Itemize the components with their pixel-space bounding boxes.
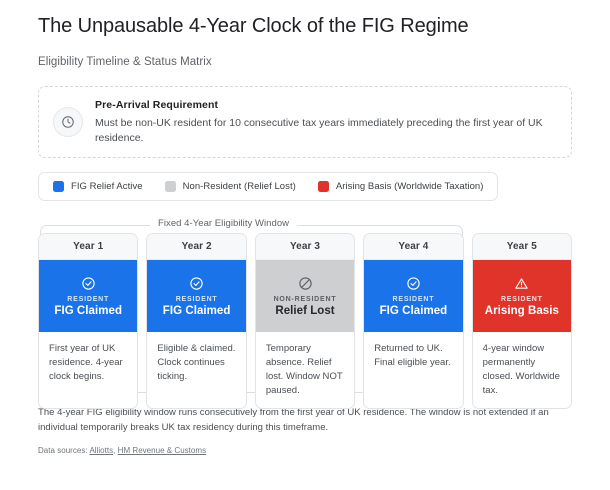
legend-item-label: FIG Relief Active — [71, 181, 143, 192]
prohibition-icon — [298, 276, 313, 291]
status-label: FIG Claimed — [54, 305, 122, 317]
timeline-column-year-1[interactable]: Year 1 RESIDENT FIG Claimed First year o… — [38, 233, 138, 409]
sources-separator: , — [113, 446, 115, 455]
source-link-alliotts[interactable]: Alliotts — [89, 446, 113, 455]
column-header: Year 3 — [256, 234, 354, 260]
status-kicker: RESIDENT — [393, 296, 435, 303]
timeline-columns: Year 1 RESIDENT FIG Claimed First year o… — [38, 233, 572, 409]
page-title: The Unpausable 4-Year Clock of the FIG R… — [38, 0, 572, 40]
timeline-column-year-5[interactable]: Year 5 RESIDENT Arising Basis 4-year win… — [472, 233, 572, 409]
status-kicker: NON-RESIDENT — [274, 296, 337, 303]
pre-arrival-requirement-note: Pre-Arrival Requirement Must be non-UK r… — [38, 86, 572, 158]
infographic-page: The Unpausable 4-Year Clock of the FIG R… — [0, 0, 610, 490]
warning-triangle-icon — [514, 276, 529, 291]
check-circle-icon — [81, 276, 96, 291]
legend-item-label: Arising Basis (Worldwide Taxation) — [336, 181, 484, 192]
data-sources-prefix: Data sources: — [38, 446, 88, 455]
status-cell: RESIDENT FIG Claimed — [147, 260, 245, 332]
legend-swatch-icon — [318, 181, 329, 192]
legend-swatch-icon — [165, 181, 176, 192]
legend: FIG Relief Active Non-Resident (Relief L… — [38, 172, 498, 201]
column-header: Year 2 — [147, 234, 245, 260]
timeline-column-year-4[interactable]: Year 4 RESIDENT FIG Claimed Returned to … — [363, 233, 463, 409]
fixed-window-label: Fixed 4-Year Eligibility Window — [150, 218, 297, 229]
status-label: Arising Basis — [485, 305, 559, 317]
timeline-column-year-3[interactable]: Year 3 NON-RESIDENT Relief Lost Temporar… — [255, 233, 355, 409]
column-header: Year 1 — [39, 234, 137, 260]
status-label: Relief Lost — [275, 305, 334, 317]
status-cell: RESIDENT Arising Basis — [473, 260, 571, 332]
column-header: Year 4 — [364, 234, 462, 260]
note-text: Must be non-UK resident for 10 consecuti… — [95, 112, 557, 146]
check-circle-icon — [406, 276, 421, 291]
status-label: FIG Claimed — [380, 305, 448, 317]
timeline-column-year-2[interactable]: Year 2 RESIDENT FIG Claimed Eligible & c… — [146, 233, 246, 409]
legend-item-non-resident: Non-Resident (Relief Lost) — [165, 181, 296, 192]
status-kicker: RESIDENT — [67, 296, 109, 303]
eligibility-timeline: Fixed 4-Year Eligibility Window Year 1 R… — [38, 217, 572, 393]
footer-note: The 4-year FIG eligibility window runs c… — [38, 405, 572, 435]
column-description: Eligible & claimed. Clock continues tick… — [147, 332, 245, 408]
note-title: Pre-Arrival Requirement — [95, 98, 557, 112]
data-sources: Data sources: Alliotts, HM Revenue & Cus… — [38, 446, 572, 455]
status-cell: RESIDENT FIG Claimed — [39, 260, 137, 332]
legend-item-arising-basis: Arising Basis (Worldwide Taxation) — [318, 181, 484, 192]
column-header: Year 5 — [473, 234, 571, 260]
column-description: 4-year window permanently closed. Worldw… — [473, 332, 571, 408]
column-description: Temporary absence. Relief lost. Window N… — [256, 332, 354, 408]
status-kicker: RESIDENT — [176, 296, 218, 303]
check-circle-icon — [189, 276, 204, 291]
page-subtitle: Eligibility Timeline & Status Matrix — [38, 40, 572, 68]
legend-item-label: Non-Resident (Relief Lost) — [183, 181, 296, 192]
column-description: First year of UK residence. 4-year clock… — [39, 332, 137, 408]
status-cell: RESIDENT FIG Claimed — [364, 260, 462, 332]
source-link-hmrc[interactable]: HM Revenue & Customs — [118, 446, 206, 455]
legend-swatch-icon — [53, 181, 64, 192]
note-body: Pre-Arrival Requirement Must be non-UK r… — [95, 98, 557, 146]
clock-icon — [53, 107, 83, 137]
status-kicker: RESIDENT — [501, 296, 543, 303]
status-label: FIG Claimed — [163, 305, 231, 317]
legend-item-fig-relief-active: FIG Relief Active — [53, 181, 143, 192]
column-description: Returned to UK. Final eligible year. — [364, 332, 462, 408]
status-cell: NON-RESIDENT Relief Lost — [256, 260, 354, 332]
